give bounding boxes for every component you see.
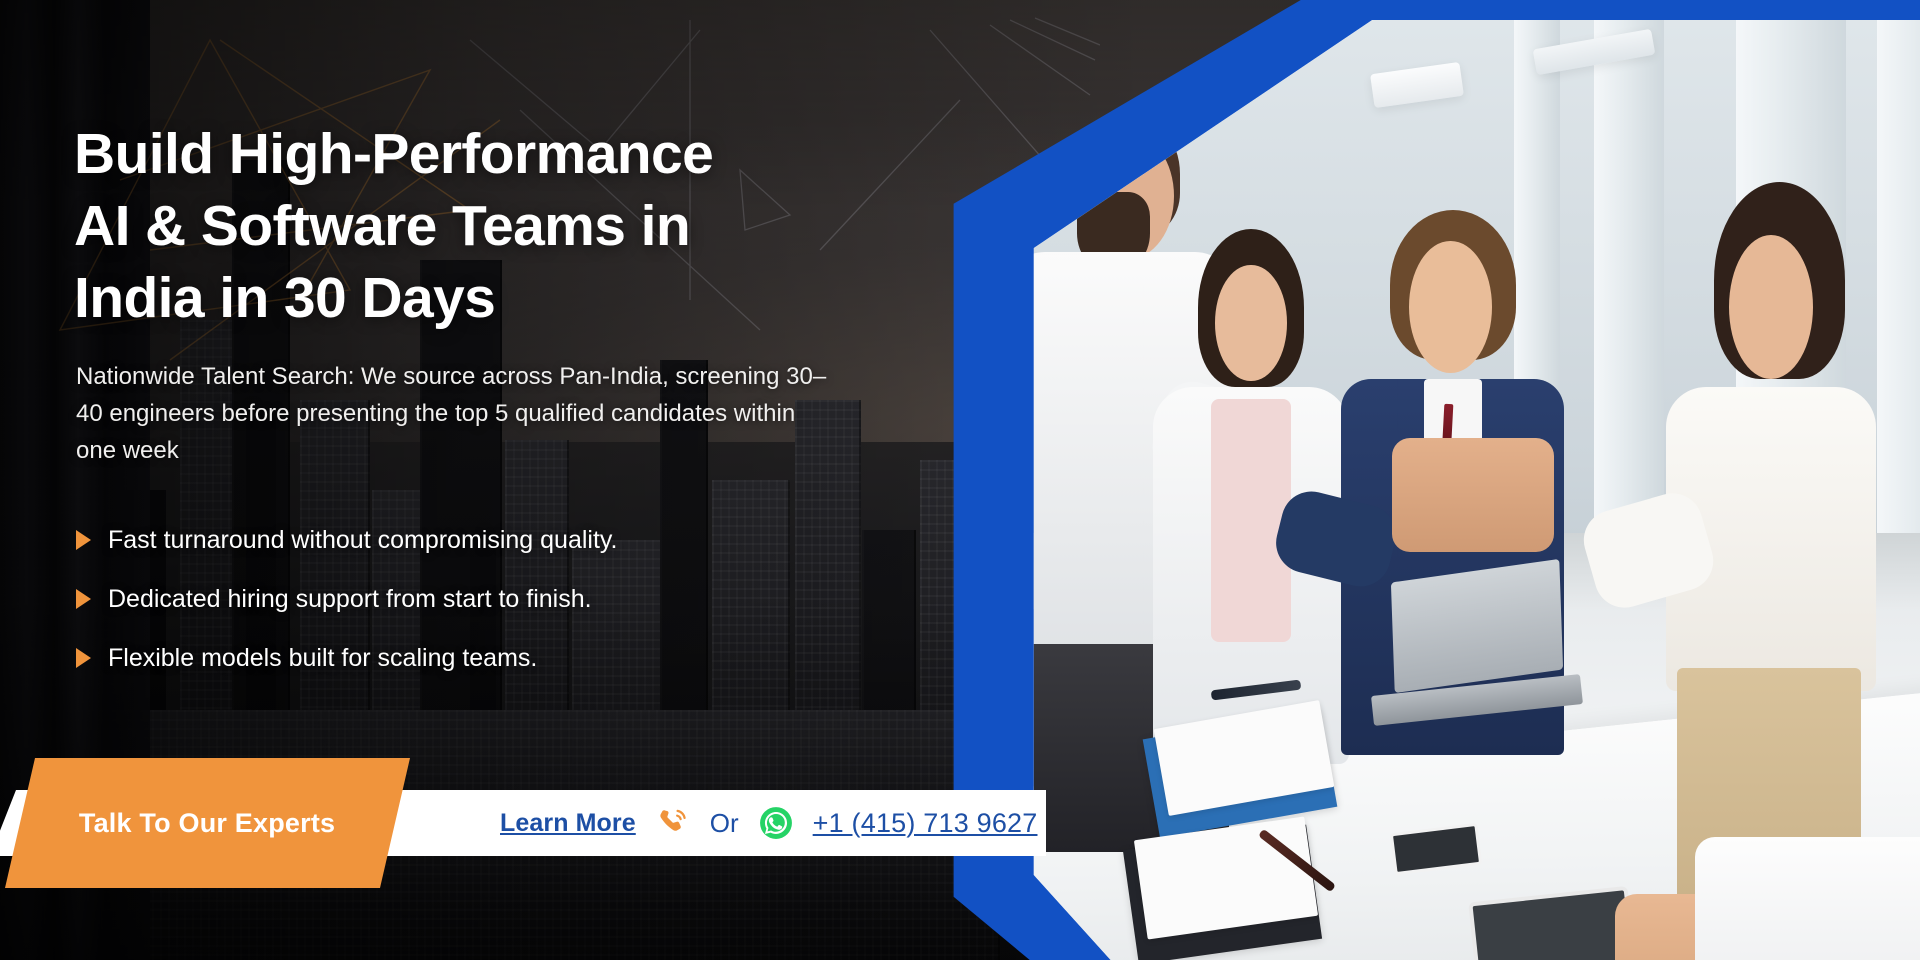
- list-item: Fast turnaround without compromising qua…: [76, 524, 866, 556]
- learn-more-link[interactable]: Learn More: [500, 809, 636, 838]
- headline-line-2: AI & Software Teams in: [74, 190, 914, 262]
- hero-subtext: Nationwide Talent Search: We source acro…: [76, 358, 836, 469]
- whatsapp-icon[interactable]: [759, 806, 793, 840]
- list-item-label: Flexible models built for scaling teams.: [108, 642, 537, 674]
- cta-contact-group: Learn More Or +1 (415) 713 9627: [500, 790, 1038, 856]
- talk-to-our-experts-button[interactable]: Talk To Our Experts: [5, 758, 410, 888]
- list-item: Flexible models built for scaling teams.: [76, 642, 866, 674]
- list-item-label: Dedicated hiring support from start to f…: [108, 583, 592, 615]
- phone-call-icon[interactable]: [656, 806, 690, 840]
- talk-to-our-experts-label: Talk To Our Experts: [79, 808, 335, 839]
- triangle-right-icon: [76, 589, 91, 609]
- headline-line-3: India in 30 Days: [74, 262, 914, 334]
- headline-line-1: Build High-Performance: [74, 118, 914, 190]
- list-item-label: Fast turnaround without compromising qua…: [108, 524, 618, 556]
- feature-list: Fast turnaround without compromising qua…: [76, 524, 866, 701]
- page-title: Build High-Performance AI & Software Tea…: [74, 118, 914, 334]
- or-label: Or: [710, 808, 739, 839]
- hero-banner: Build High-Performance AI & Software Tea…: [0, 0, 1920, 960]
- list-item: Dedicated hiring support from start to f…: [76, 583, 866, 615]
- triangle-right-icon: [76, 648, 91, 668]
- triangle-right-icon: [76, 530, 91, 550]
- phone-number-link[interactable]: +1 (415) 713 9627: [813, 808, 1038, 839]
